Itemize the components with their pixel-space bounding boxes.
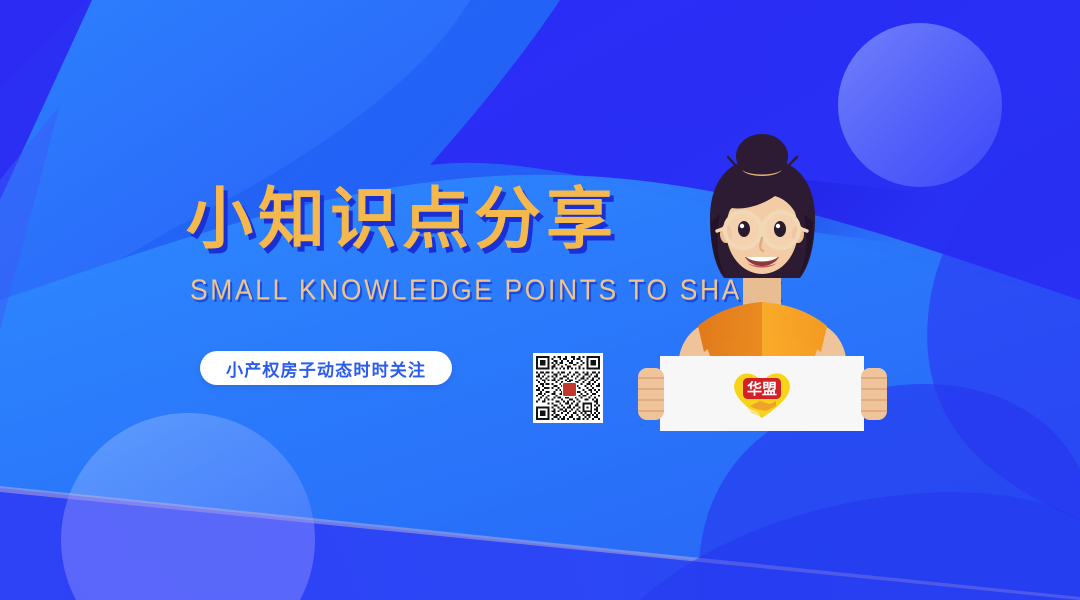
promo-banner: 小知识点分享 SMALL KNOWLEDGE POINTS TO SHARE 小… <box>0 0 1080 600</box>
left-hand <box>638 368 664 420</box>
logo-text: 华盟 <box>747 380 777 398</box>
tagline-pill-button[interactable]: 小产权房子动态时时关注 <box>200 351 452 385</box>
woman-with-glasses-illustration: 华盟 <box>612 130 942 460</box>
qr-center-logo-icon <box>562 382 577 397</box>
qr-code-icon[interactable] <box>533 353 603 423</box>
right-hand <box>861 368 887 420</box>
